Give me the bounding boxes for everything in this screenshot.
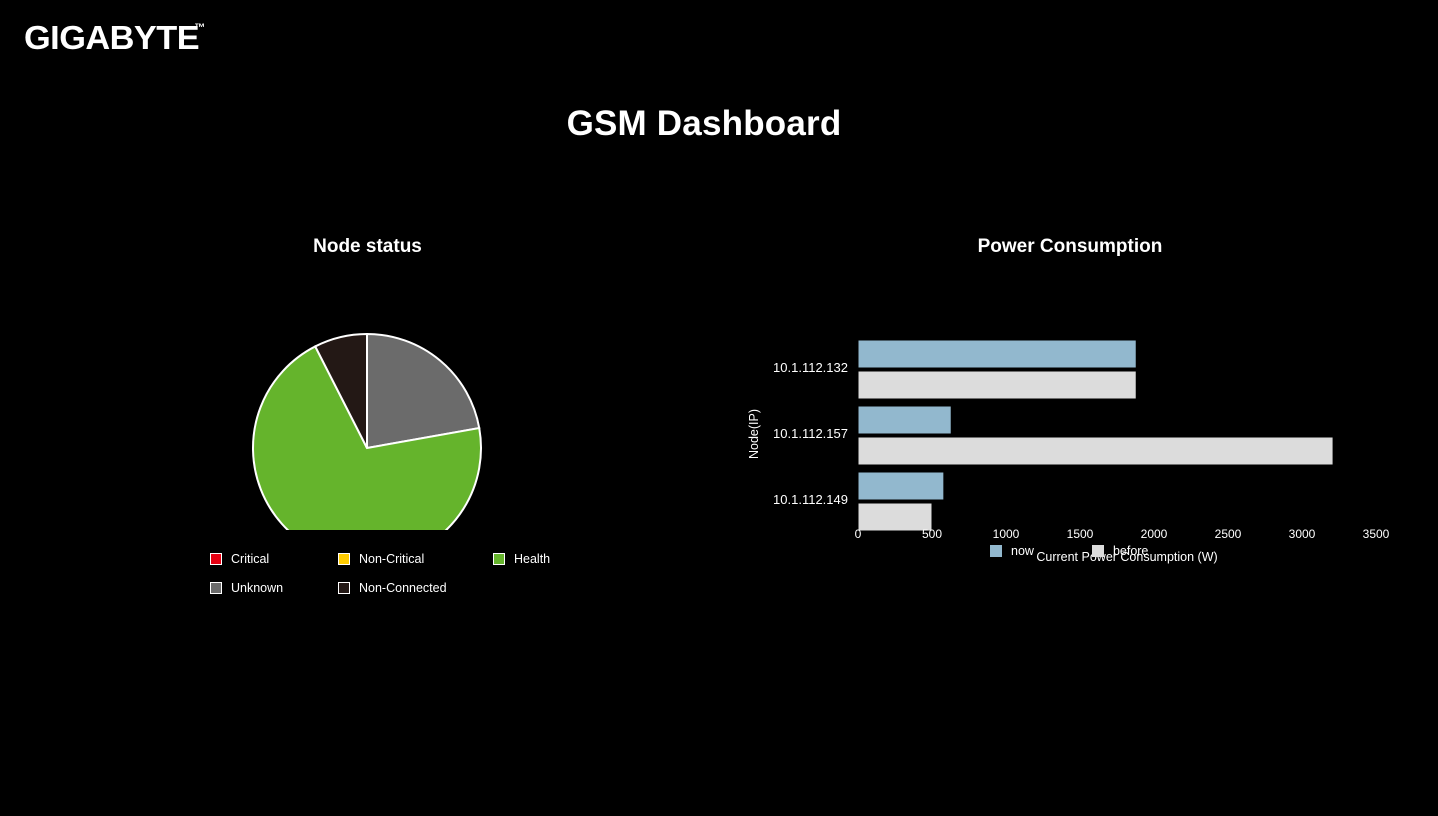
x-tick-label-1500: 1500 [1067, 527, 1094, 541]
legend-label-before: before [1113, 544, 1148, 558]
power-consumption-legend: now before [990, 544, 1148, 558]
pie-svg [140, 280, 595, 530]
x-tick-label-1000: 1000 [993, 527, 1020, 541]
x-tick-group: 0500100015002000250030003500 [855, 527, 1390, 541]
node-status-pie-chart [140, 280, 595, 530]
category-label-group: 10.1.112.13210.1.112.15710.1.112.149 [773, 360, 848, 507]
legend-swatch-non-critical [338, 553, 350, 565]
page-title: GSM Dashboard [0, 104, 1408, 144]
legend-swatch-before [1092, 545, 1104, 557]
pie-slice-group [253, 334, 481, 530]
legend-label-unknown: Unknown [231, 581, 283, 595]
power-consumption-bar-chart: 10.1.112.13210.1.112.15710.1.112.149 050… [740, 274, 1400, 574]
category-label-10.1.112.157: 10.1.112.157 [773, 426, 848, 441]
bar-now-10.1.112.149[interactable] [858, 472, 944, 500]
legend-label-critical: Critical [231, 552, 269, 566]
legend-swatch-unknown [210, 582, 222, 594]
bar-now-10.1.112.157[interactable] [858, 406, 951, 434]
power-consumption-panel: Power Consumption 10.1.112.13210.1.112.1… [740, 236, 1400, 574]
legend-swatch-now [990, 545, 1002, 557]
x-tick-label-3000: 3000 [1289, 527, 1316, 541]
brand-logo: GIGABYTE ™ [24, 20, 205, 56]
legend-label-non-critical: Non-Critical [359, 552, 424, 566]
legend-swatch-non-connected [338, 582, 350, 594]
x-tick-label-0: 0 [855, 527, 862, 541]
x-tick-label-2000: 2000 [1141, 527, 1168, 541]
legend-label-health: Health [514, 552, 550, 566]
legend-item-unknown[interactable]: Unknown [210, 581, 338, 595]
category-label-10.1.112.132: 10.1.112.132 [773, 360, 848, 375]
node-status-title: Node status [140, 236, 595, 258]
legend-item-critical[interactable]: Critical [210, 552, 338, 566]
bar-svg: 10.1.112.13210.1.112.15710.1.112.149 050… [740, 274, 1400, 574]
bar-before-10.1.112.149[interactable] [858, 503, 932, 531]
category-label-10.1.112.149: 10.1.112.149 [773, 492, 848, 507]
bar-now-10.1.112.132[interactable] [858, 340, 1136, 368]
legend-item-before[interactable]: before [1092, 544, 1148, 558]
legend-item-non-critical[interactable]: Non-Critical [338, 552, 493, 566]
bar-before-10.1.112.157[interactable] [858, 437, 1333, 465]
legend-label-non-connected: Non-Connected [359, 581, 447, 595]
legend-item-health[interactable]: Health [493, 552, 613, 566]
bar-group [858, 340, 1333, 531]
legend-swatch-critical [210, 553, 222, 565]
node-status-panel: Node status Critical Non-Critical Health… [140, 236, 595, 530]
bar-before-10.1.112.132[interactable] [858, 371, 1136, 399]
legend-swatch-health [493, 553, 505, 565]
legend-label-now: now [1011, 544, 1034, 558]
x-tick-label-3500: 3500 [1363, 527, 1390, 541]
node-status-legend: Critical Non-Critical Health Unknown Non… [210, 544, 610, 602]
brand-name: GIGABYTE [24, 20, 199, 56]
legend-item-now[interactable]: now [990, 544, 1034, 558]
y-axis-title: Node(IP) [747, 409, 761, 459]
x-tick-label-2500: 2500 [1215, 527, 1242, 541]
x-tick-label-500: 500 [922, 527, 942, 541]
legend-item-non-connected[interactable]: Non-Connected [338, 581, 493, 595]
power-consumption-title: Power Consumption [740, 236, 1400, 258]
